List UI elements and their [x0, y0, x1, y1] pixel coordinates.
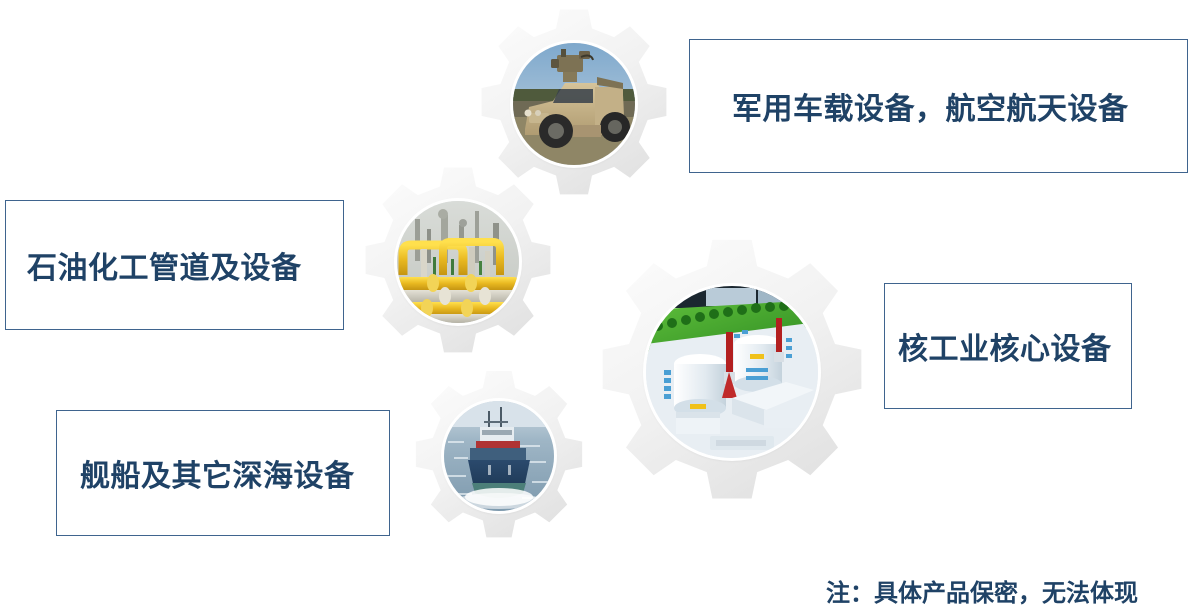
- caption-box-petro[interactable]: 石油化工管道及设备: [5, 200, 344, 330]
- caption-label-petro: 石油化工管道及设备: [27, 243, 302, 287]
- gear-nuclear: [592, 232, 872, 512]
- caption-box-military[interactable]: 军用车载设备，航空航天设备: [689, 39, 1188, 173]
- caption-label-nuclear: 核工业核心设备: [898, 324, 1112, 368]
- gear-petro: [358, 162, 558, 362]
- ship-photo: [444, 401, 554, 511]
- caption-box-ship[interactable]: 舰船及其它深海设备: [56, 410, 390, 536]
- caption-label-military: 军用车载设备，航空航天设备: [732, 84, 1129, 128]
- footnote-text: 注：具体产品保密，无法体现: [826, 573, 1138, 608]
- petrochemical-pipeline-photo: [397, 201, 519, 323]
- military-vehicle-photo: [513, 43, 635, 165]
- gear-ship: [409, 366, 589, 546]
- caption-box-nuclear[interactable]: 核工业核心设备: [884, 283, 1132, 409]
- slide-canvas: 军用车载设备，航空航天设备 石油化工管道及设备 核工业核心设备 舰船及其它深海设…: [0, 0, 1200, 616]
- caption-label-ship: 舰船及其它深海设备: [80, 451, 355, 495]
- nuclear-plant-photo: [646, 286, 818, 458]
